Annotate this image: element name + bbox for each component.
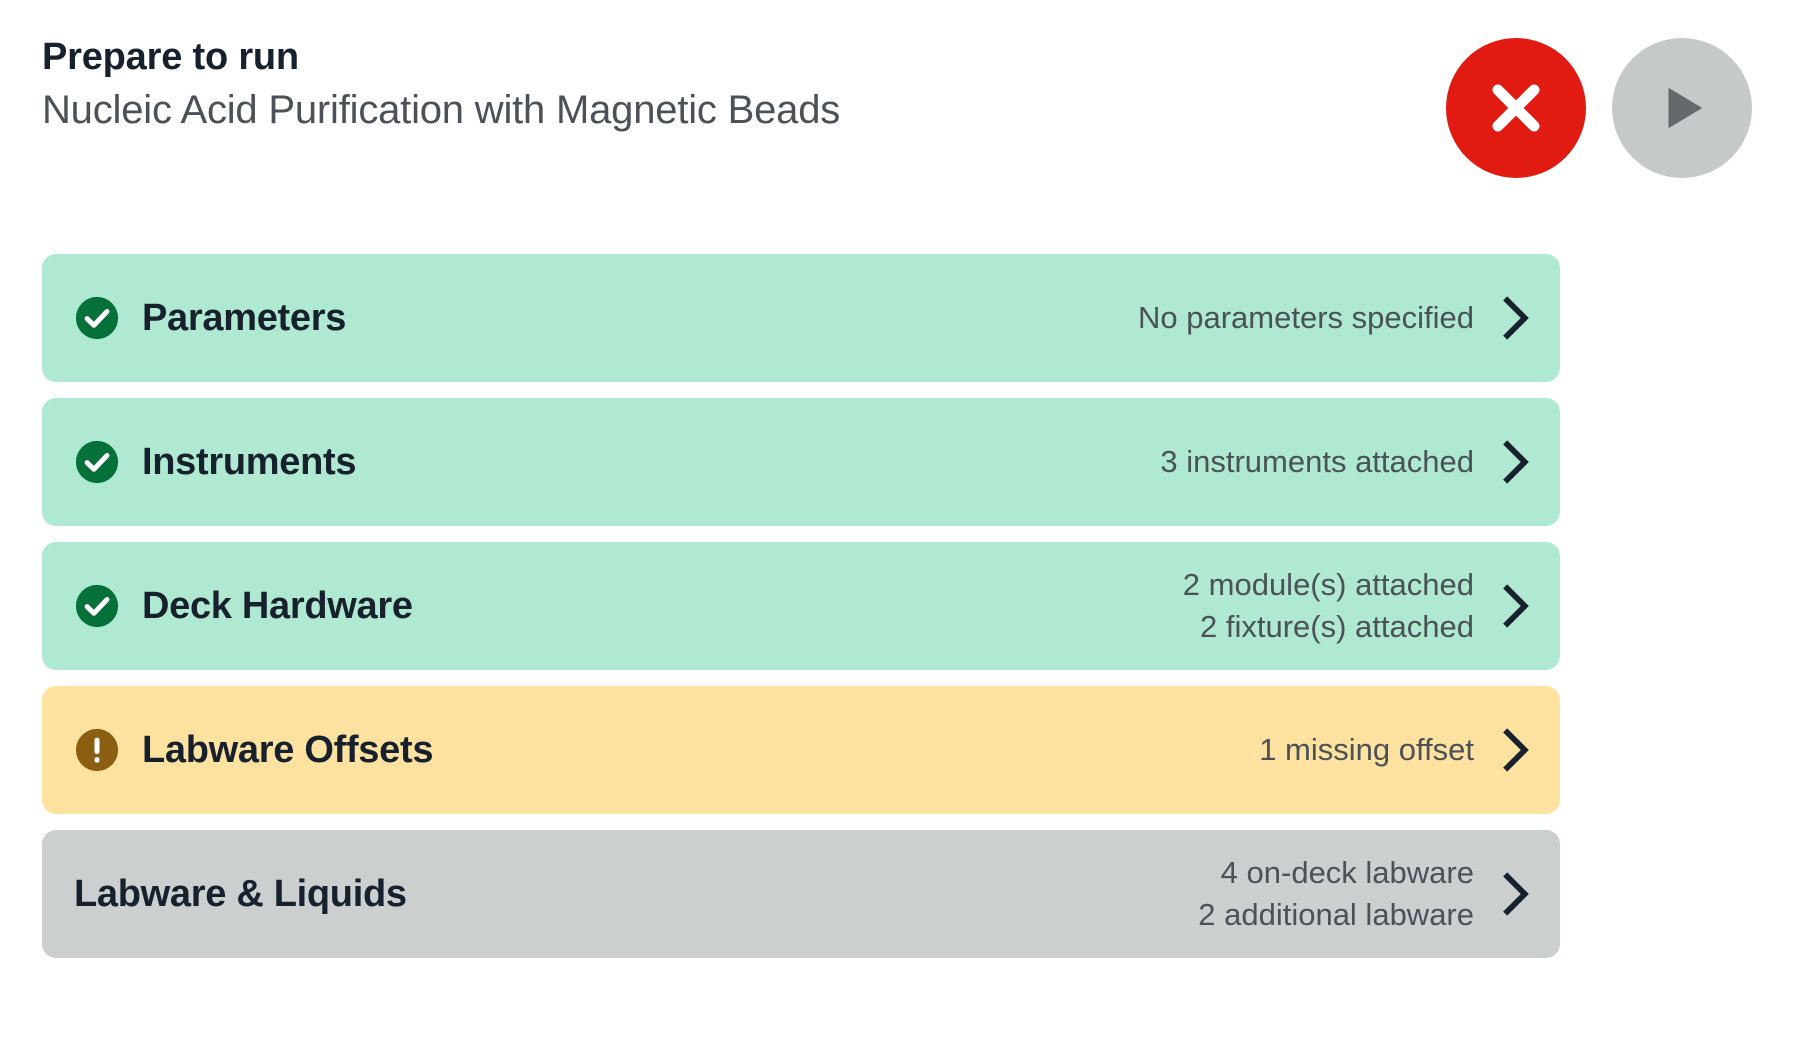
- status-line: 2 fixture(s) attached: [1200, 607, 1474, 647]
- setup-row-status: 1 missing offset: [1259, 730, 1474, 770]
- chevron-right-icon[interactable]: [1502, 872, 1530, 916]
- setup-row-right: No parameters specified: [1138, 296, 1530, 340]
- status-line: 3 instruments attached: [1160, 442, 1474, 482]
- play-icon: [1655, 78, 1709, 138]
- protocol-name: Nucleic Acid Purification with Magnetic …: [42, 86, 840, 134]
- setup-row-right: 4 on-deck labware 2 additional labware: [1198, 853, 1530, 936]
- page-title: Prepare to run: [42, 36, 840, 80]
- setup-row-labware-offsets[interactable]: Labware Offsets 1 missing offset: [42, 686, 1560, 814]
- setup-row-left: Instruments: [74, 439, 1160, 485]
- chevron-right-icon[interactable]: [1502, 584, 1530, 628]
- setup-row-status: No parameters specified: [1138, 298, 1474, 338]
- status-line: 2 module(s) attached: [1183, 565, 1474, 605]
- setup-row-left: Labware Offsets: [74, 727, 1259, 773]
- setup-row-instruments[interactable]: Instruments 3 instruments attached: [42, 398, 1560, 526]
- header-text-block: Prepare to run Nucleic Acid Purification…: [42, 28, 840, 134]
- alert-circle-icon: [74, 727, 120, 773]
- check-circle-icon: [74, 295, 120, 341]
- setup-row-status: 2 module(s) attached 2 fixture(s) attach…: [1183, 565, 1474, 648]
- setup-row-left: Parameters: [74, 295, 1138, 341]
- setup-row-label: Instruments: [142, 441, 356, 484]
- setup-row-right: 3 instruments attached: [1160, 440, 1530, 484]
- setup-row-deck-hardware[interactable]: Deck Hardware 2 module(s) attached 2 fix…: [42, 542, 1560, 670]
- check-circle-icon: [74, 439, 120, 485]
- setup-row-right: 2 module(s) attached 2 fixture(s) attach…: [1183, 565, 1530, 648]
- setup-step-list: Parameters No parameters specified Instr…: [42, 254, 1560, 958]
- setup-row-labware-and-liquids[interactable]: Labware & Liquids 4 on-deck labware 2 ad…: [42, 830, 1560, 958]
- header: Prepare to run Nucleic Acid Purification…: [0, 0, 1800, 200]
- setup-row-left: Deck Hardware: [74, 583, 1183, 629]
- close-run-button[interactable]: [1446, 38, 1586, 178]
- setup-row-status: 3 instruments attached: [1160, 442, 1474, 482]
- setup-row-left: Labware & Liquids: [74, 873, 1198, 916]
- chevron-right-icon[interactable]: [1502, 440, 1530, 484]
- status-line: 4 on-deck labware: [1221, 853, 1474, 893]
- chevron-right-icon[interactable]: [1502, 728, 1530, 772]
- setup-row-parameters[interactable]: Parameters No parameters specified: [42, 254, 1560, 382]
- setup-row-label: Labware Offsets: [142, 729, 433, 772]
- setup-row-label: Parameters: [142, 297, 346, 340]
- status-line: 2 additional labware: [1198, 895, 1474, 935]
- prepare-to-run-screen: Prepare to run Nucleic Acid Purification…: [0, 0, 1800, 1051]
- status-line: No parameters specified: [1138, 298, 1474, 338]
- setup-row-right: 1 missing offset: [1259, 728, 1530, 772]
- setup-row-label: Deck Hardware: [142, 585, 413, 628]
- close-x-icon: [1485, 77, 1547, 139]
- setup-row-label: Labware & Liquids: [74, 873, 407, 916]
- check-circle-icon: [74, 583, 120, 629]
- setup-row-status: 4 on-deck labware 2 additional labware: [1198, 853, 1474, 936]
- header-actions: [1446, 28, 1752, 178]
- status-line: 1 missing offset: [1259, 730, 1474, 770]
- chevron-right-icon[interactable]: [1502, 296, 1530, 340]
- start-run-button[interactable]: [1612, 38, 1752, 178]
